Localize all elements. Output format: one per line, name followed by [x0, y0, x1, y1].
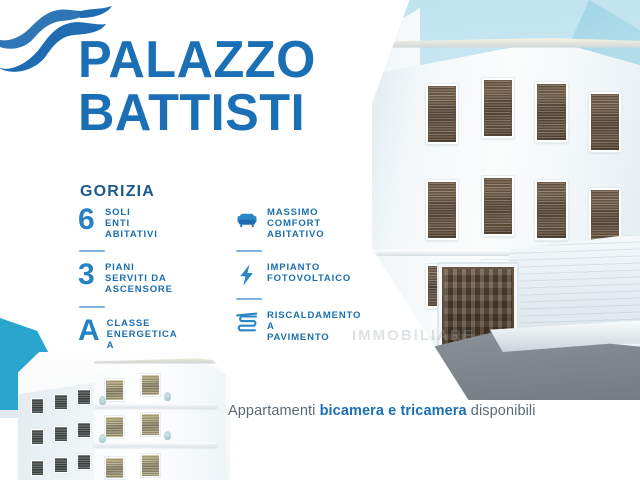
tagline-suffix: disponibili	[467, 403, 536, 419]
feature-item: MASSIMO COMFORT ABITATIVO	[234, 206, 384, 240]
feature-divider	[236, 298, 262, 300]
balcony-slab	[94, 442, 217, 447]
feature-item: IMPIANTO FOTOVOLTAICO	[234, 261, 384, 288]
lightning-bolt-icon	[234, 262, 260, 288]
feature-divider	[236, 250, 262, 252]
city-subtitle: GORIZIA	[80, 183, 155, 201]
window	[31, 460, 45, 476]
feature-label: SOLI ENTI ABITATIVI	[105, 206, 158, 240]
balcony-plant	[99, 396, 106, 405]
feature-item: 6 SOLI ENTI ABITATIVI	[78, 206, 198, 240]
window	[77, 389, 91, 405]
feature-item: A CLASSE ENERGETICA A	[78, 317, 198, 351]
window	[31, 398, 45, 414]
tagline: Appartamenti bicamera e tricamera dispon…	[228, 403, 536, 419]
window	[77, 454, 91, 470]
features-column-left: 6 SOLI ENTI ABITATIVI 3 PIANI SERVITI DA…	[78, 206, 198, 351]
feature-label: RISCALDAMENTO A PAVIMENTO	[267, 309, 361, 343]
balcony-plant	[99, 434, 106, 443]
window	[105, 457, 124, 479]
tagline-highlight: bicamera e tricamera	[320, 403, 467, 419]
advertisement-poster: PALAZZO BATTISTI GORIZIA 6 SOLI ENTI ABI…	[0, 0, 640, 480]
window	[54, 394, 68, 410]
window	[54, 426, 68, 442]
window	[426, 180, 458, 240]
balcony-plant	[164, 392, 171, 401]
window	[589, 92, 621, 152]
window	[426, 84, 458, 144]
window	[141, 374, 160, 396]
feature-label: CLASSE ENERGETICA A	[107, 317, 178, 351]
feature-label: IMPIANTO FOTOVOLTAICO	[267, 261, 351, 285]
features-column-right: MASSIMO COMFORT ABITATIVO IMPIANTO FOTOV…	[234, 206, 384, 344]
window	[535, 82, 567, 142]
floor-heating-icon	[234, 310, 260, 336]
window	[482, 78, 514, 138]
window	[141, 454, 160, 476]
feature-item: RISCALDAMENTO A PAVIMENTO	[234, 309, 384, 343]
feature-item: 3 PIANI SERVITI DA ASCENSORE	[78, 261, 198, 295]
feature-divider	[79, 250, 105, 252]
feature-value: A	[78, 317, 100, 345]
window	[31, 429, 45, 445]
title-line-2: BATTISTI	[78, 91, 359, 136]
balcony-slab	[94, 403, 217, 408]
main-building-photo	[372, 0, 640, 400]
feature-divider	[79, 306, 105, 308]
window	[77, 422, 91, 438]
feature-label: PIANI SERVITI DA ASCENSORE	[105, 261, 173, 295]
window	[54, 457, 68, 473]
title-line-1: PALAZZO	[78, 38, 359, 83]
sofa-icon	[234, 207, 260, 233]
tagline-prefix: Appartamenti	[228, 403, 320, 419]
window	[141, 413, 160, 435]
window	[535, 180, 567, 240]
page-title: PALAZZO BATTISTI	[78, 38, 368, 135]
window	[105, 416, 124, 438]
feature-value: 6	[78, 206, 98, 234]
window	[482, 176, 514, 236]
window	[105, 379, 124, 401]
feature-label: MASSIMO COMFORT ABITATIVO	[267, 206, 324, 240]
feature-value: 3	[78, 261, 98, 289]
inset-building-photo	[18, 352, 230, 480]
